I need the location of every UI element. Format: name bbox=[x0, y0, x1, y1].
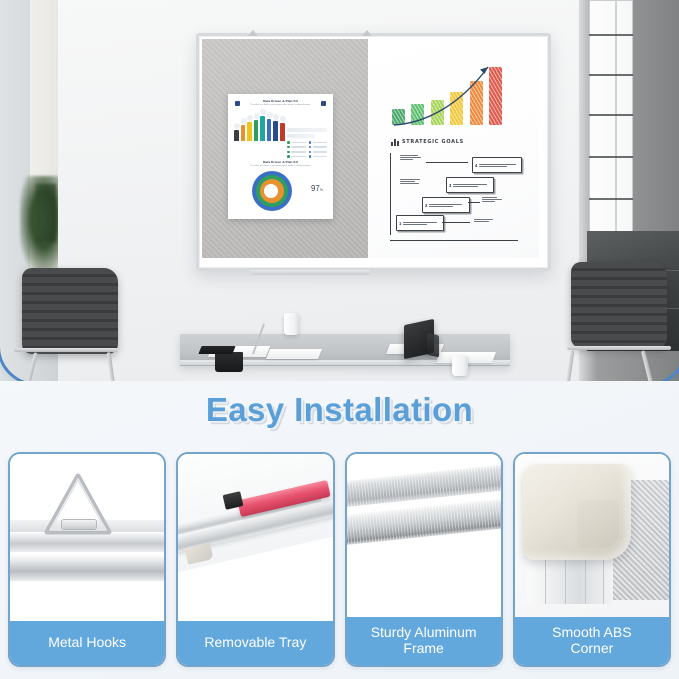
product-feature-page: Data Driven & Plan Kit The value of a st… bbox=[0, 0, 679, 679]
abs-corner-photo bbox=[515, 454, 669, 617]
aluminum-frame-photo bbox=[347, 454, 501, 617]
feature-card-row: Metal Hooks Removable Tray Sturdy Alumin… bbox=[0, 452, 679, 667]
feature-card-abs-corner[interactable]: Smooth ABSCorner bbox=[513, 452, 671, 667]
card-caption: Metal Hooks bbox=[10, 621, 164, 665]
hero-blue-border bbox=[0, 0, 679, 381]
card-caption: Sturdy AluminumFrame bbox=[347, 617, 501, 665]
feature-card-metal-hooks[interactable]: Metal Hooks bbox=[8, 452, 166, 667]
card-caption: Smooth ABSCorner bbox=[515, 617, 669, 665]
conference-room-photo: Data Driven & Plan Kit The value of a st… bbox=[0, 0, 679, 381]
feature-card-aluminum-frame[interactable]: Sturdy AluminumFrame bbox=[345, 452, 503, 667]
card-caption: Removable Tray bbox=[178, 621, 332, 665]
page-title: Easy Installation bbox=[0, 391, 679, 429]
corner-cap-facet bbox=[577, 500, 619, 548]
feature-card-removable-tray[interactable]: Removable Tray bbox=[176, 452, 334, 667]
hero-image: Data Driven & Plan Kit The value of a st… bbox=[0, 0, 679, 381]
hook-mount-tab bbox=[62, 520, 96, 529]
metal-hook-photo bbox=[10, 454, 164, 621]
removable-tray-photo bbox=[178, 454, 332, 621]
